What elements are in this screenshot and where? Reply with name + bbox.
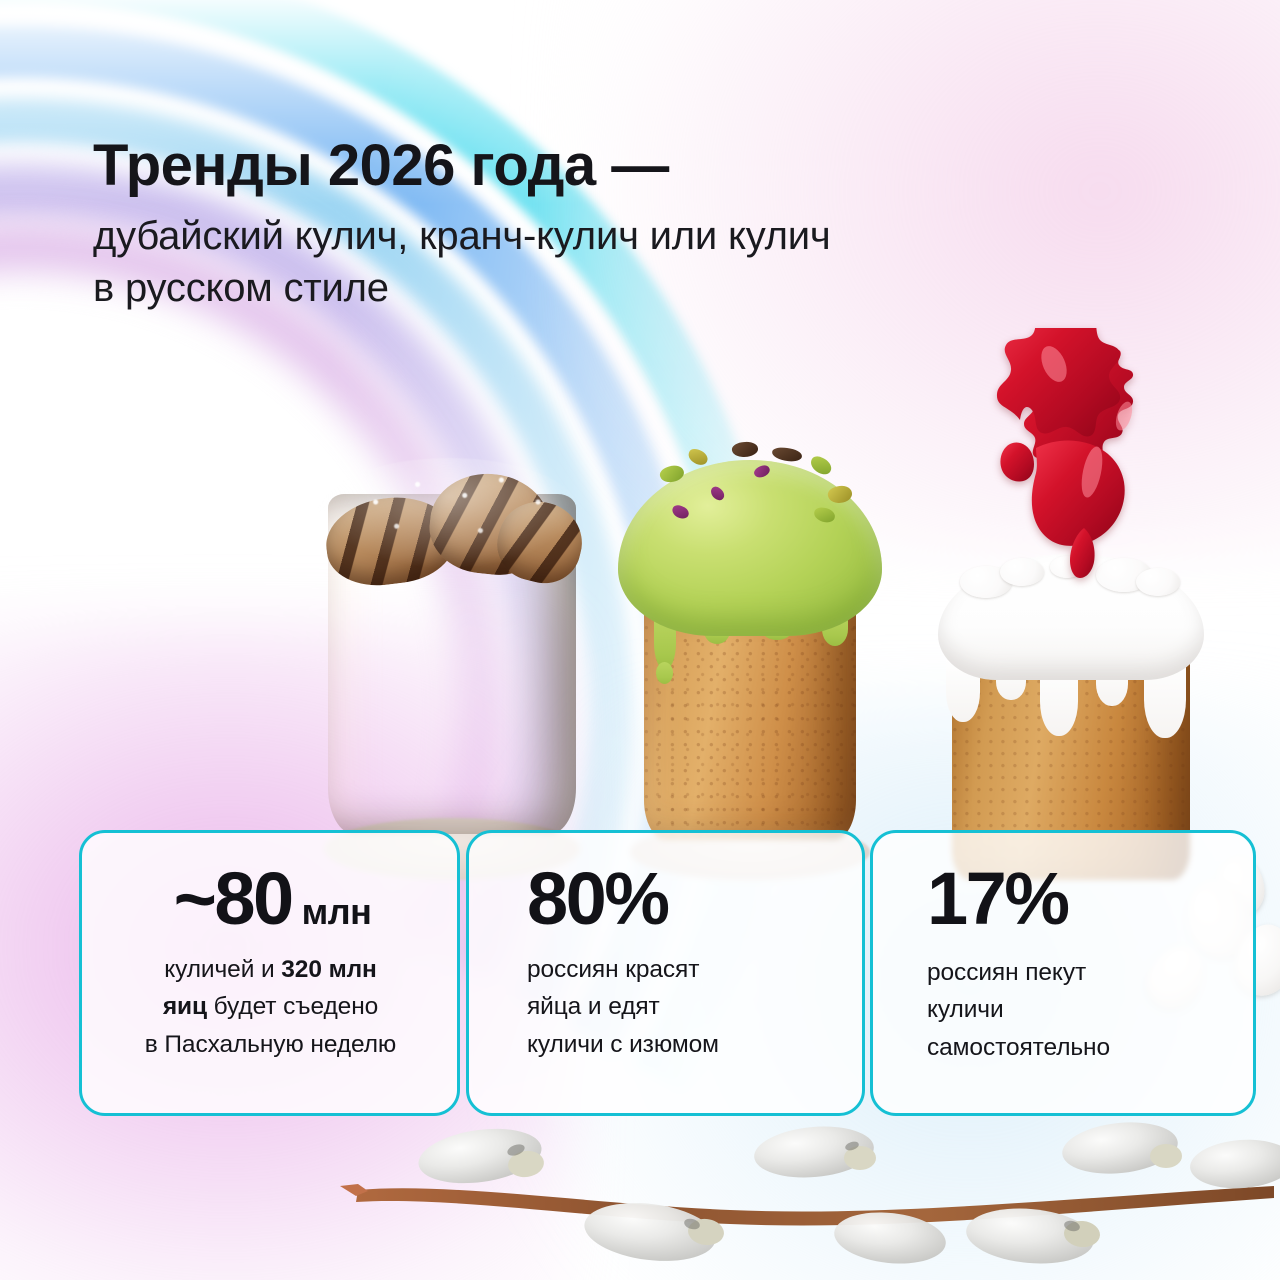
stat-card-kulichi-eggs-eaten[interactable]: ~80 млн куличей и 320 млняиц будет съеде… <box>79 830 460 1116</box>
stat-card-paint-eggs[interactable]: 80% россиян красятяйца и едяткуличи с из… <box>466 830 865 1116</box>
stat-card-bake-themselves[interactable]: 17% россиян пекуткуличисамостоятельно <box>870 830 1256 1116</box>
stat-number: 80% <box>527 863 668 934</box>
stat-description: куличей и 320 млняиц будет съеденов Пасх… <box>108 951 433 1063</box>
pussy-willow-branch <box>330 1086 1280 1280</box>
stat-unit: млн <box>302 895 372 930</box>
stat-value: ~80 млн <box>108 863 433 934</box>
stat-description: россиян красятяйца и едяткуличи с изюмом <box>495 951 838 1063</box>
stat-description: россиян пекуткуличисамостоятельно <box>899 954 1229 1066</box>
stat-value: 17% <box>899 863 1229 934</box>
stat-value: 80% <box>495 863 838 934</box>
stat-number: 17% <box>927 863 1068 934</box>
infographic-poster: Тренды 2026 года — дубайский кулич, кран… <box>0 0 1280 1280</box>
stat-number: ~80 <box>174 863 292 934</box>
